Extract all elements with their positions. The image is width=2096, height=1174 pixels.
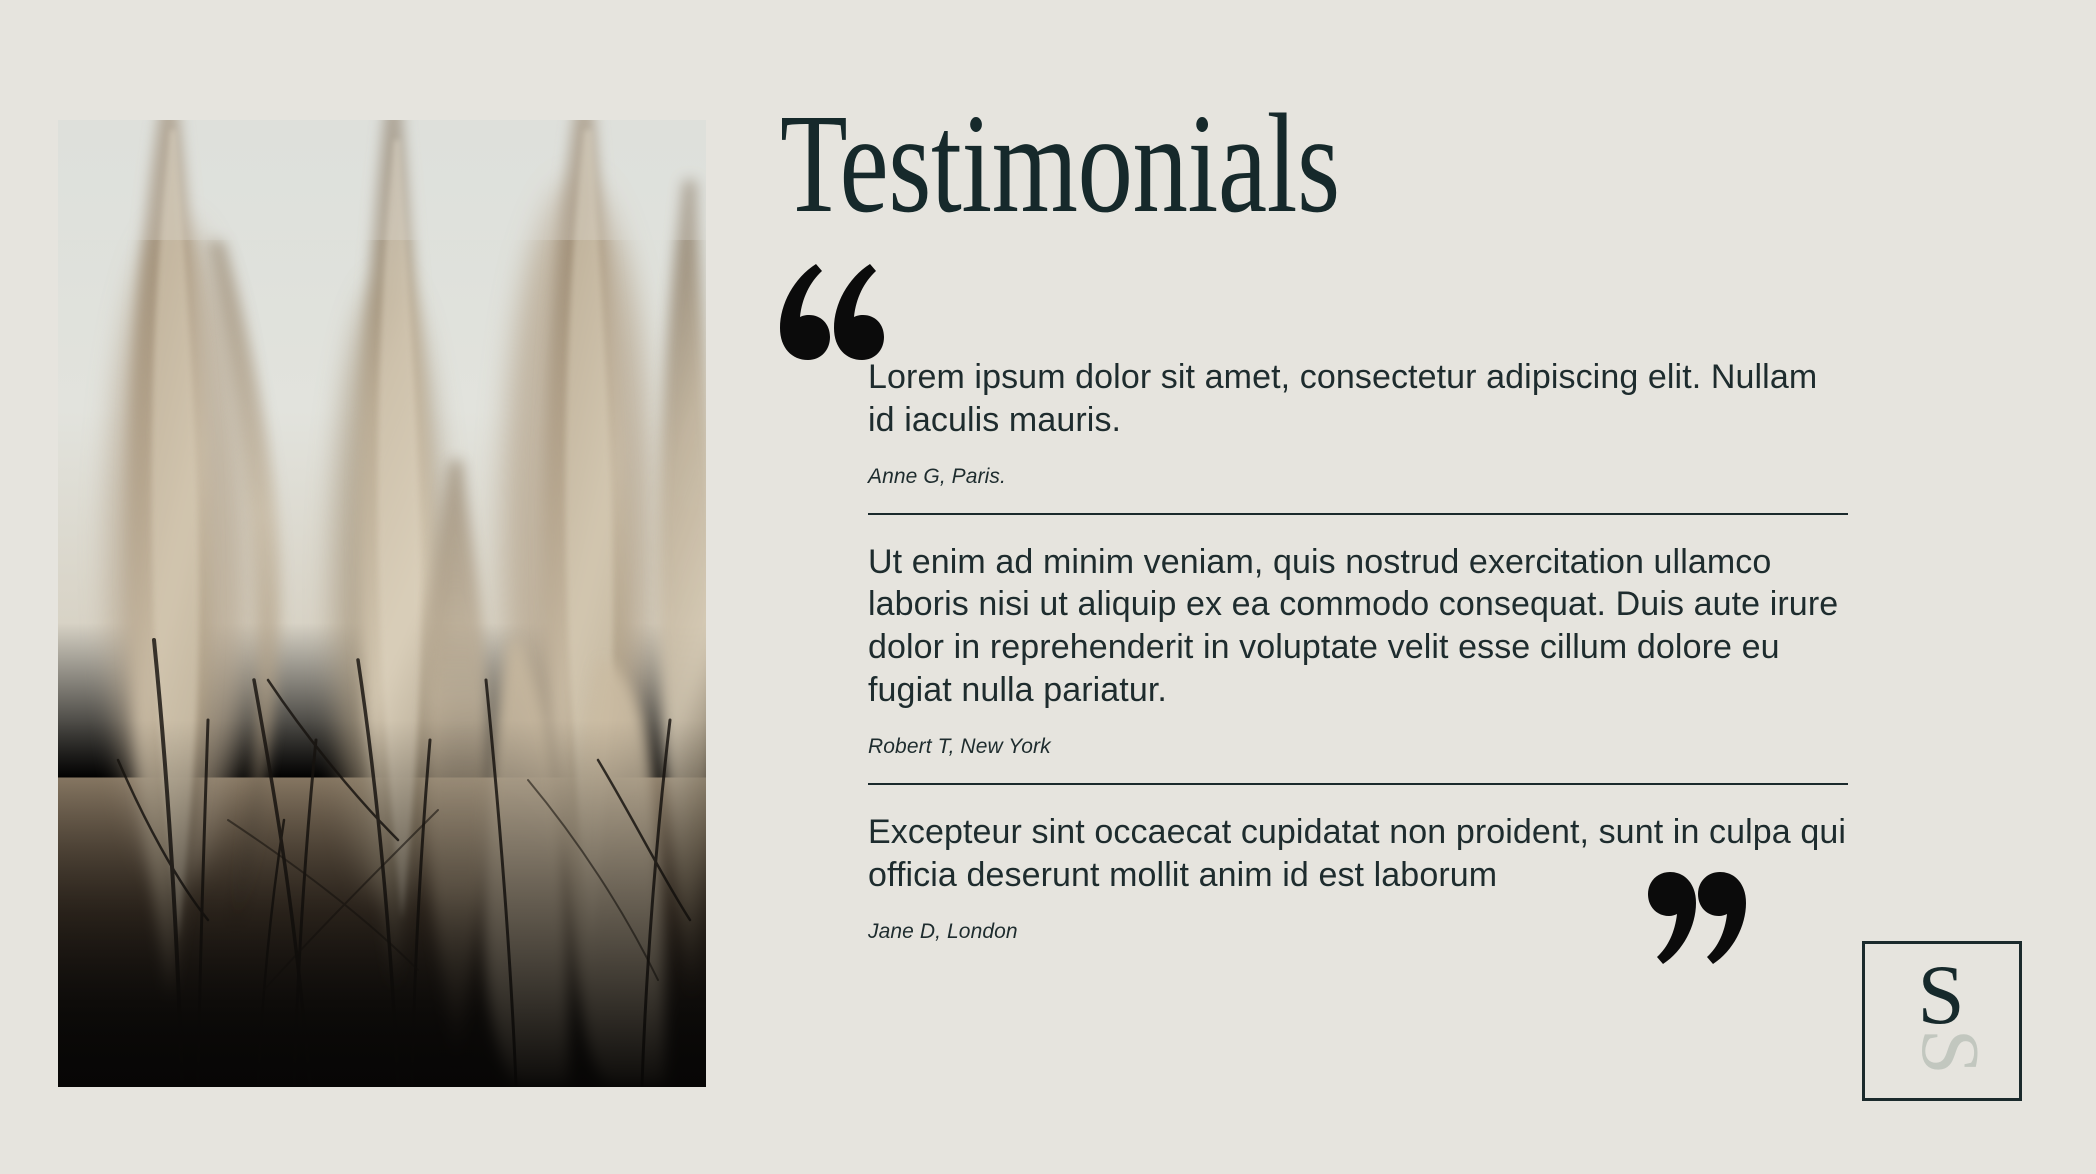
logo-letter: S	[1917, 949, 1964, 1042]
brand-logo: S S	[1862, 941, 2022, 1101]
testimonial-list: Lorem ipsum dolor sit amet, consectetur …	[868, 356, 1848, 944]
quote-close-glyph	[1641, 872, 1751, 972]
opening-quote-icon	[772, 256, 892, 366]
pampas-grass-photo	[58, 120, 706, 1087]
testimonial-quote: Ut enim ad minim veniam, quis nostrud ex…	[868, 541, 1848, 712]
pampas-grass-illustration	[58, 120, 706, 1087]
testimonial-divider	[868, 783, 1848, 785]
page-title: Testimonials	[780, 92, 1340, 234]
closing-quote-icon	[1641, 872, 1751, 972]
testimonial-quote: Lorem ipsum dolor sit amet, consectetur …	[868, 356, 1848, 442]
quote-open-glyph	[772, 256, 892, 366]
testimonial-author: Robert T, New York	[868, 735, 1848, 759]
testimonial-item: Ut enim ad minim veniam, quis nostrud ex…	[868, 541, 1848, 785]
testimonial-divider	[868, 513, 1848, 515]
testimonial-item: Lorem ipsum dolor sit amet, consectetur …	[868, 356, 1848, 515]
testimonials-slide: Testimonials Lorem ipsum dolor sit amet,…	[0, 0, 2096, 1174]
testimonial-author: Anne G, Paris.	[868, 465, 1848, 489]
logo-mark: S S	[1865, 944, 2019, 1098]
